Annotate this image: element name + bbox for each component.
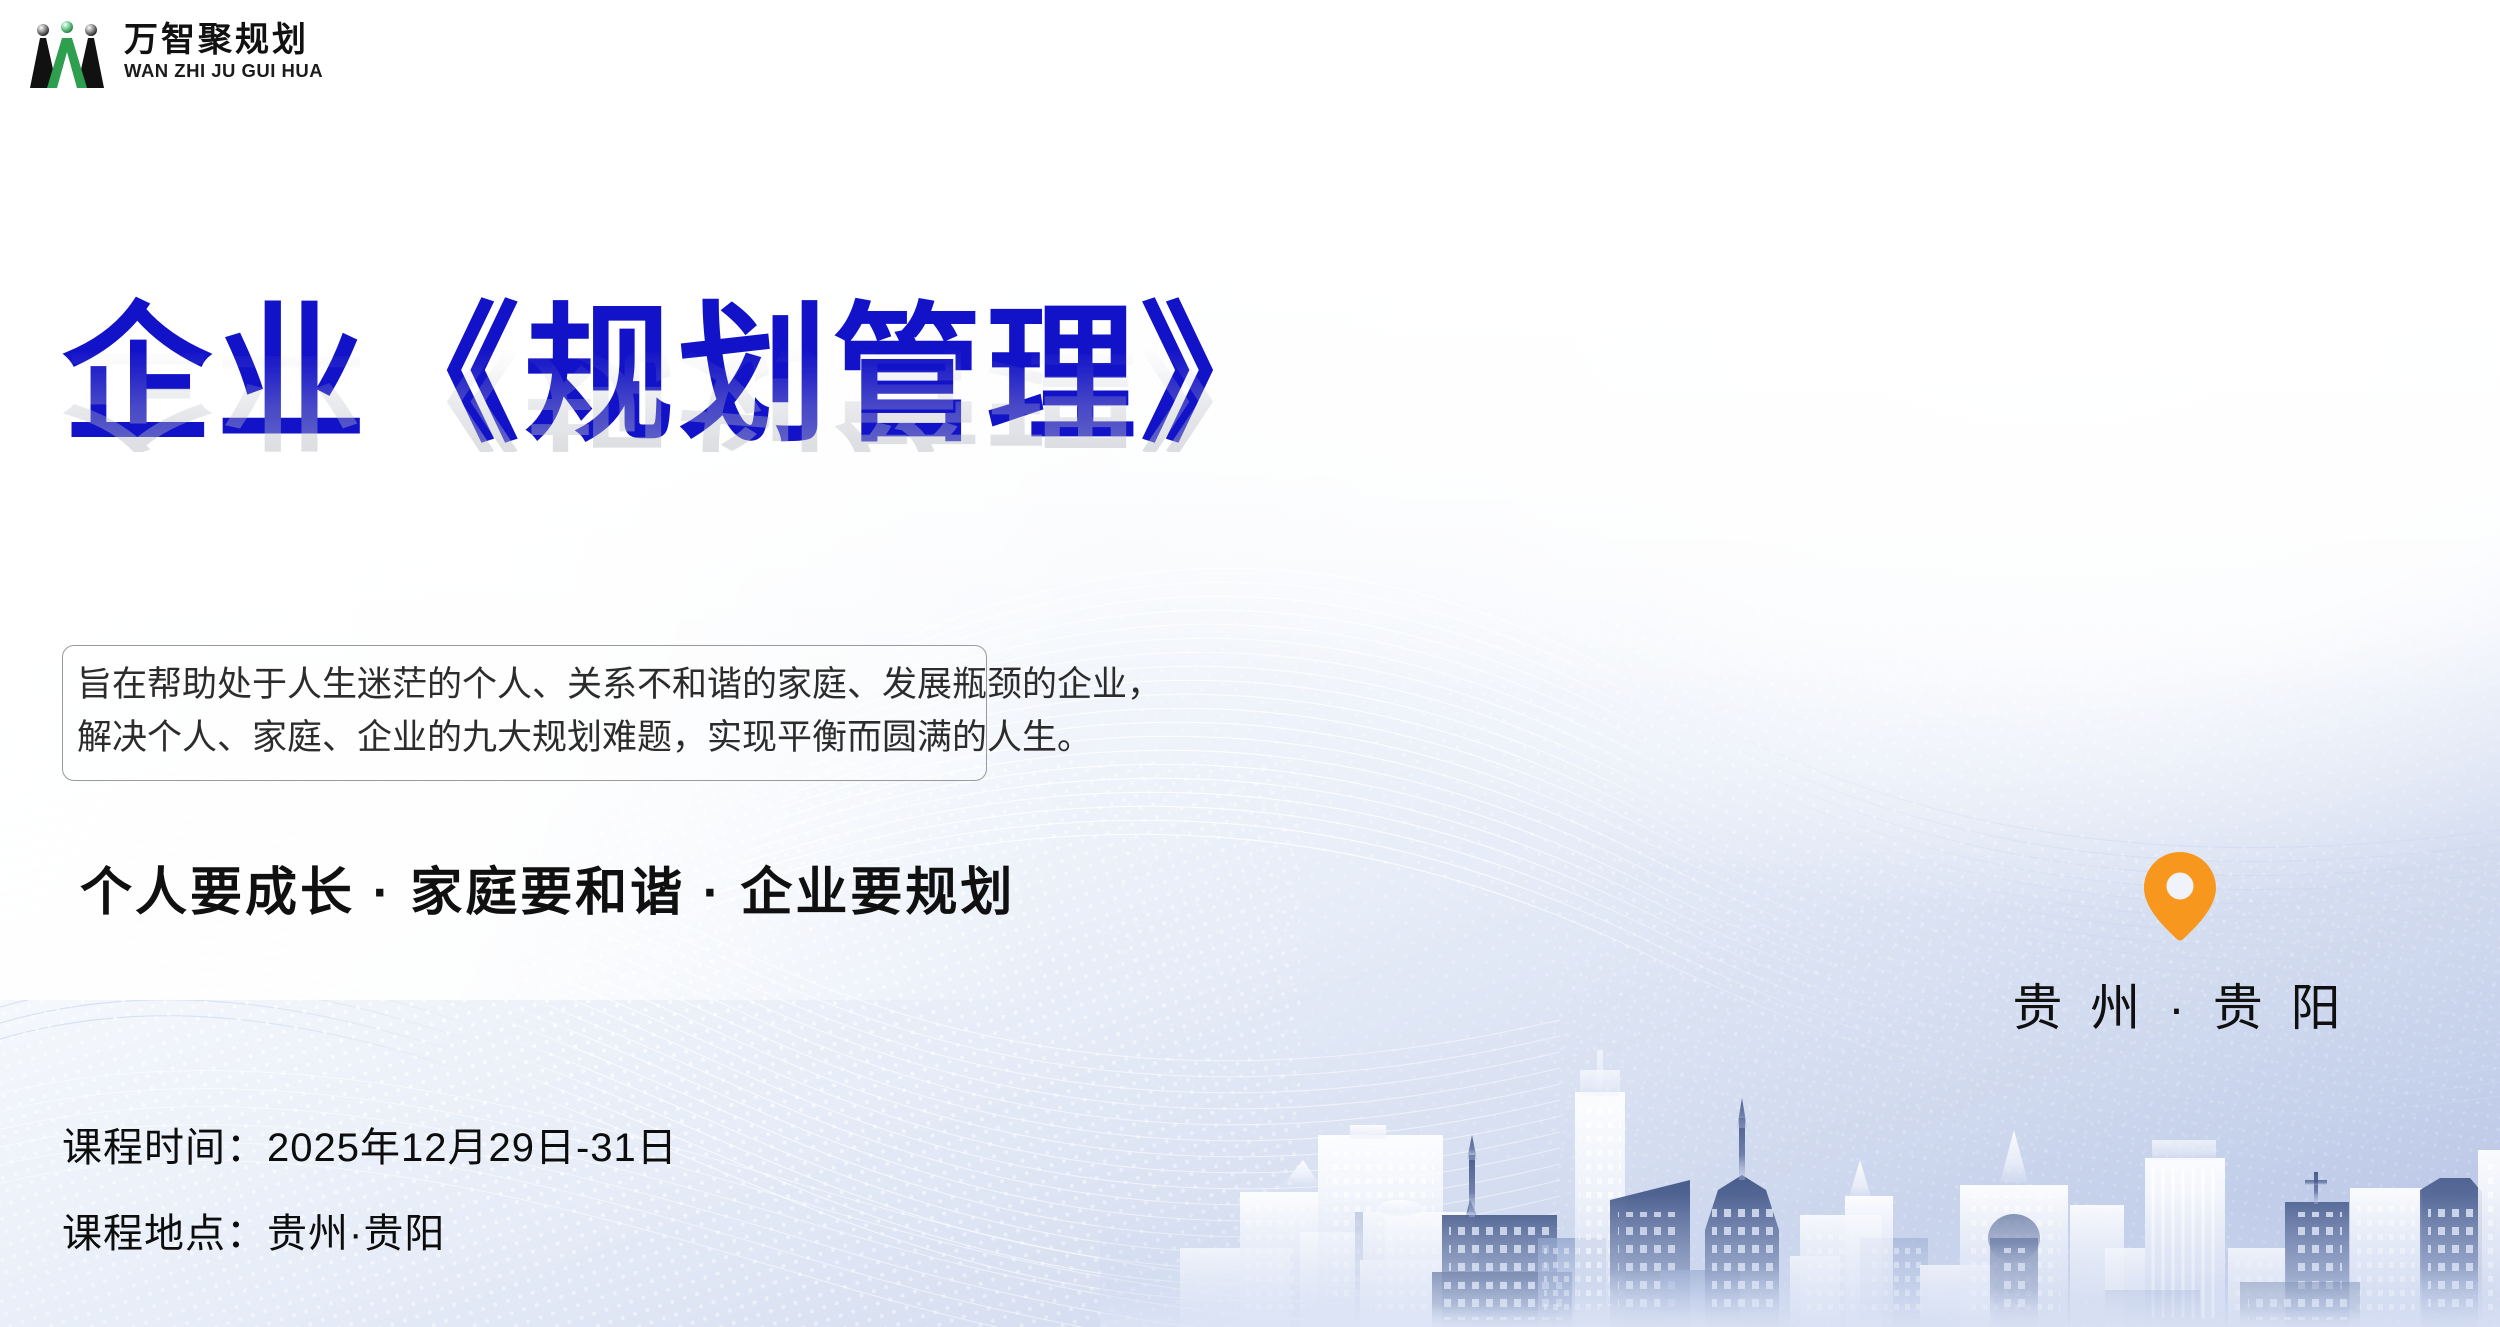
course-info-block: 课程时间：2025年12月29日-31日 课程地点：贵州·贵阳 (62, 1115, 678, 1259)
page-title-reflection: 企业《规划管理》 (0, 344, 1620, 452)
poster-canvas: 万智聚规划 WAN ZHI JU GUI HUA 企业《规划管理》 企业《规划管… (0, 0, 2500, 1327)
brand-name-pinyin: WAN ZHI JU GUI HUA (124, 61, 323, 80)
brand-name-cn: 万智聚规划 (124, 23, 323, 59)
hero-title-block: 企业《规划管理》 企业《规划管理》 (0, 300, 1620, 602)
three-people-mountain-logo-icon (28, 16, 106, 88)
description-box: 旨在帮助处于人生迷茫的个人、关系不和谐的家庭、发展瓶颈的企业， 解决个人、家庭、… (62, 645, 987, 781)
course-place: 课程地点：贵州·贵阳 (62, 1201, 678, 1259)
description-line-1: 旨在帮助处于人生迷茫的个人、关系不和谐的家庭、发展瓶颈的企业， (77, 659, 970, 712)
brand-logo[interactable]: 万智聚规划 WAN ZHI JU GUI HUA (28, 16, 323, 88)
course-time: 课程时间：2025年12月29日-31日 (62, 1115, 678, 1173)
location-city-label: 贵 州 · 贵 阳 (2012, 968, 2347, 1040)
tagline: 个人要成长 · 家庭要和谐 · 企业要规划 (80, 850, 1015, 925)
location-block: 贵 州 · 贵 阳 (1960, 850, 2400, 1040)
skyline-buildings (1180, 1050, 2500, 1327)
brand-text-block: 万智聚规划 WAN ZHI JU GUI HUA (124, 23, 323, 80)
description-line-2: 解决个人、家庭、企业的九大规划难题，实现平衡而圆满的人生。 (77, 712, 970, 765)
map-pin-icon (2141, 850, 2219, 942)
